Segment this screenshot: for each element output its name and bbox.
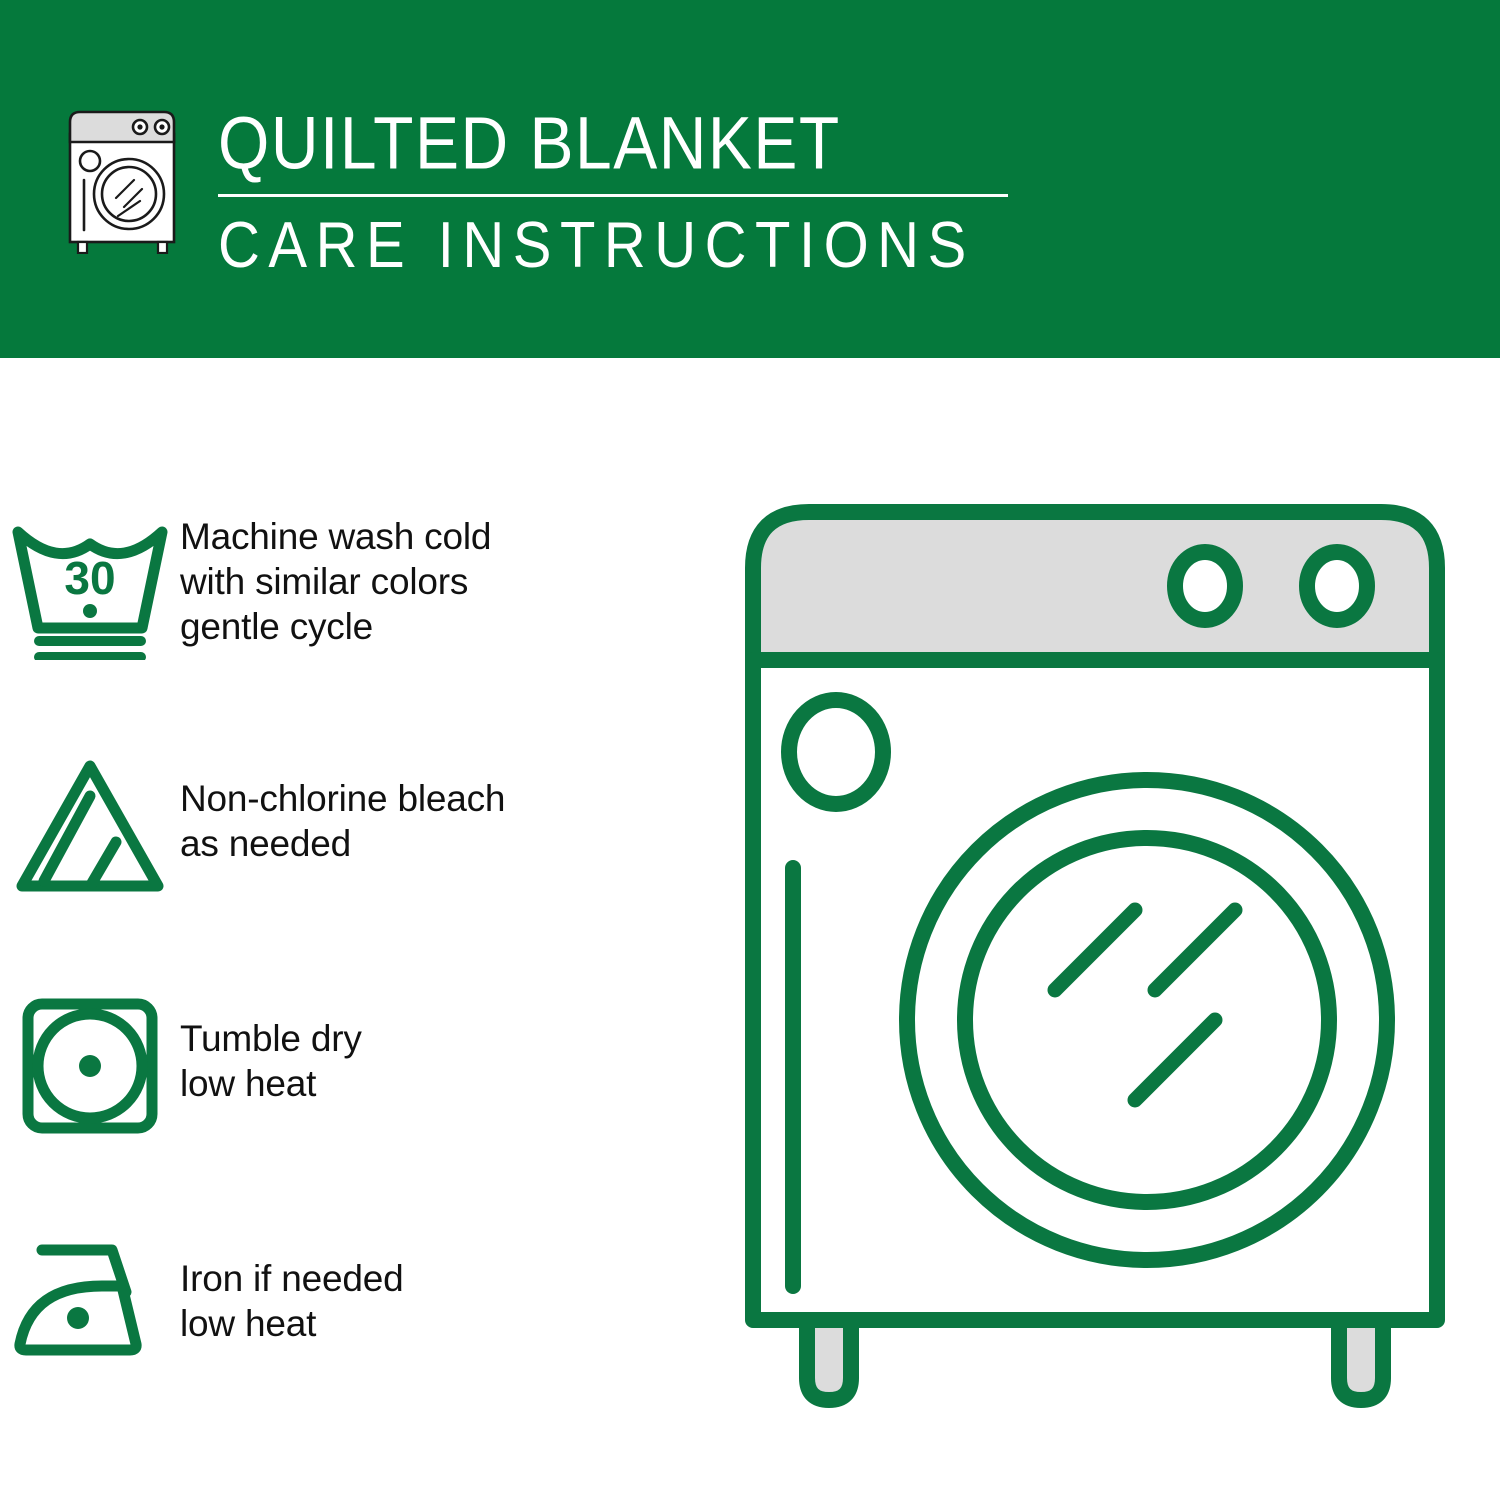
care-label-line: gentle cycle (180, 604, 491, 649)
care-label-line: with similar colors (180, 559, 491, 604)
header-banner: QUILTED BLANKET CARE INSTRUCTIONS (0, 0, 1500, 358)
dry-symbol-wrap (0, 980, 180, 1140)
gentle-bar-2 (34, 652, 146, 660)
title-divider (218, 194, 1008, 197)
care-label-line: Non-chlorine bleach (180, 776, 505, 821)
gentle-bar-1 (34, 636, 146, 646)
page-title: QUILTED BLANKET (218, 100, 1018, 185)
header-text-block: QUILTED BLANKET CARE INSTRUCTIONS (218, 100, 1018, 275)
care-row-bleach: Non-chlorine bleach as needed (0, 740, 720, 980)
care-label-line: Machine wash cold (180, 514, 491, 559)
machine-leg-right (1339, 1320, 1383, 1400)
washing-machine-icon (62, 104, 192, 254)
care-instructions-infographic: QUILTED BLANKET CARE INSTRUCTIONS 30 (0, 0, 1500, 1500)
care-label-line: low heat (180, 1061, 362, 1106)
machine-knob-right (1307, 552, 1367, 620)
machine-leg-left (807, 1320, 851, 1400)
care-row-iron: Iron if needed low heat (0, 1220, 720, 1460)
bleach-triangle-non-chlorine-icon (6, 750, 174, 900)
care-label-line: low heat (180, 1301, 403, 1346)
machine-door-inner-ring (965, 838, 1329, 1202)
care-label-line: as needed (180, 821, 505, 866)
care-label-wash: Machine wash cold with similar colors ge… (180, 500, 491, 649)
care-row-wash: 30 Machine wash cold with similar colors… (0, 500, 720, 740)
wash-temp-label: 30 (64, 552, 115, 604)
iron-symbol-wrap (0, 1220, 180, 1380)
wash-symbol-wrap: 30 (0, 500, 180, 660)
care-label-line: Tumble dry (180, 1016, 362, 1061)
care-label-iron: Iron if needed low heat (180, 1220, 403, 1346)
page-subtitle: CARE INSTRUCTIONS (218, 209, 1018, 283)
wash-tub-30-gentle-icon: 30 (6, 510, 174, 660)
bleach-symbol-wrap (0, 740, 180, 900)
care-label-tumble-dry: Tumble dry low heat (180, 980, 362, 1106)
machine-knob-left (1175, 552, 1235, 620)
care-label-line: Iron if needed (180, 1256, 403, 1301)
machine-detergent-cap (789, 700, 883, 804)
front-load-washing-machine-illustration (735, 490, 1455, 1420)
iron-heat-dot-icon (67, 1307, 89, 1329)
care-label-bleach: Non-chlorine bleach as needed (180, 740, 505, 866)
tumble-dry-low-heat-icon (6, 990, 174, 1140)
wash-dot-icon (83, 604, 97, 618)
dry-heat-dot-icon (79, 1055, 101, 1077)
iron-low-heat-icon (6, 1230, 174, 1380)
care-row-tumble-dry: Tumble dry low heat (0, 980, 720, 1220)
care-instruction-list: 30 Machine wash cold with similar colors… (0, 500, 720, 1460)
